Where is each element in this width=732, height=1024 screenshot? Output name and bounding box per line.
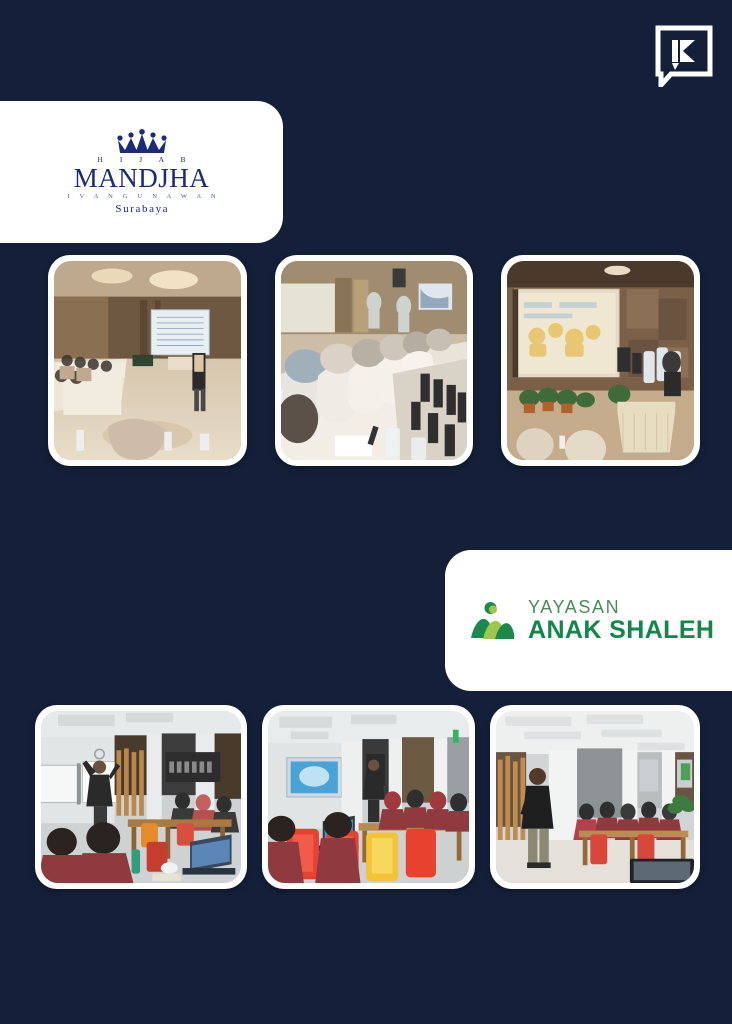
k-logo bbox=[655, 25, 713, 87]
gallery-photo[interactable] bbox=[35, 705, 247, 889]
gallery-photo[interactable] bbox=[275, 255, 473, 466]
photo-1-image bbox=[54, 261, 241, 460]
gallery-photo[interactable] bbox=[501, 255, 700, 466]
crown-icon bbox=[115, 129, 169, 155]
k-speech-bubble-icon bbox=[655, 25, 713, 87]
photo-5-image bbox=[268, 711, 469, 883]
gallery-photo[interactable] bbox=[490, 705, 700, 889]
partner-card-yayasan-anak-shaleh: YAYASAN ANAK SHALEH bbox=[445, 550, 732, 691]
photo-2-image bbox=[281, 261, 467, 460]
yayasan-line1: YAYASAN bbox=[528, 598, 714, 616]
photo-6-image bbox=[496, 711, 694, 883]
gallery-photo[interactable] bbox=[262, 705, 475, 889]
gallery-photo[interactable] bbox=[48, 255, 247, 466]
mandjha-city: Surabaya bbox=[54, 204, 229, 215]
yayasan-lockup: YAYASAN ANAK SHALEH bbox=[469, 598, 714, 643]
yayasan-line2: ANAK SHALEH bbox=[528, 618, 714, 643]
mandjha-designer: I V A N G U N A W A N bbox=[54, 194, 229, 201]
green-hill-leaf-icon bbox=[469, 600, 515, 642]
poster-page: H I J A B MANDJHA I V A N G U N A W A N … bbox=[0, 0, 732, 1024]
mandjha-tagline: H I J A B bbox=[54, 156, 229, 164]
yayasan-wordmark: YAYASAN ANAK SHALEH bbox=[528, 598, 714, 643]
partner-card-mandjha: H I J A B MANDJHA I V A N G U N A W A N … bbox=[0, 101, 283, 243]
mandjha-name: MANDJHA bbox=[54, 164, 229, 192]
photo-4-image bbox=[41, 711, 241, 883]
photo-3-image bbox=[507, 261, 694, 460]
mandjha-lockup: H I J A B MANDJHA I V A N G U N A W A N … bbox=[54, 129, 229, 215]
